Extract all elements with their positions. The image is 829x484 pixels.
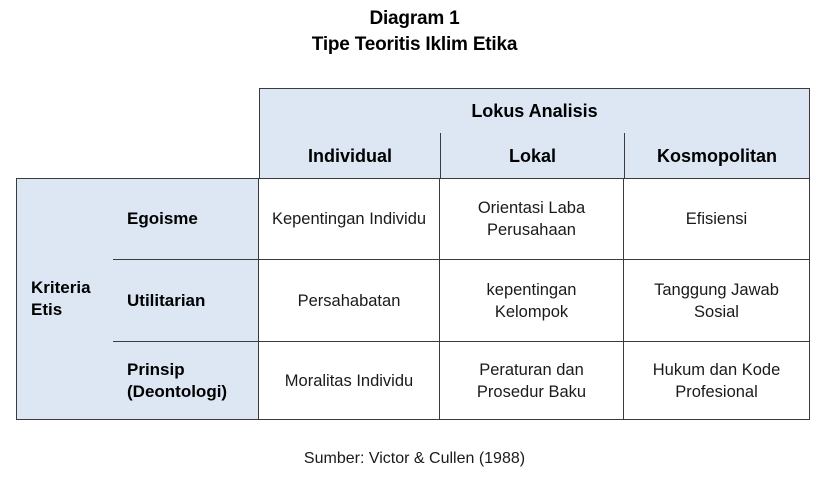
title-line-2: Tipe Teoritis Iklim Etika — [0, 32, 829, 58]
table-cell: Orientasi Laba Perusahaan — [440, 178, 624, 259]
column-header-individual: Individual — [259, 133, 440, 178]
row-header-utilitarian: Utilitarian — [113, 259, 259, 341]
table-cell: Kepentingan Individu — [259, 178, 440, 259]
title-line-1: Diagram 1 — [0, 6, 829, 32]
row-header-prinsip-deontologi: Prinsip (Deontologi) — [113, 341, 259, 420]
column-header-kosmopolitan: Kosmopolitan — [624, 133, 810, 178]
row-group-header: Kriteria Etis — [16, 178, 113, 420]
table-cell: Tanggung Jawab Sosial — [624, 259, 810, 341]
column-header-lokal: Lokal — [440, 133, 624, 178]
table-cell: Efisiensi — [624, 178, 810, 259]
table-cell: Hukum dan Kode Profesional — [624, 341, 810, 420]
source-caption: Sumber: Victor & Cullen (1988) — [0, 450, 829, 468]
table-cell: Persahabatan — [259, 259, 440, 341]
table-cell: Moralitas Individu — [259, 341, 440, 420]
table-cell: kepentingan Kelompok — [440, 259, 624, 341]
diagram-title: Diagram 1 Tipe Teoritis Iklim Etika — [0, 6, 829, 58]
row-header-egoisme: Egoisme — [113, 178, 259, 259]
column-group-header: Lokus Analisis — [259, 88, 810, 133]
ethical-climate-table: Lokus Analisis Individual Lokal Kosmopol… — [16, 88, 810, 420]
table-cell: Peraturan dan Prosedur Baku — [440, 341, 624, 420]
